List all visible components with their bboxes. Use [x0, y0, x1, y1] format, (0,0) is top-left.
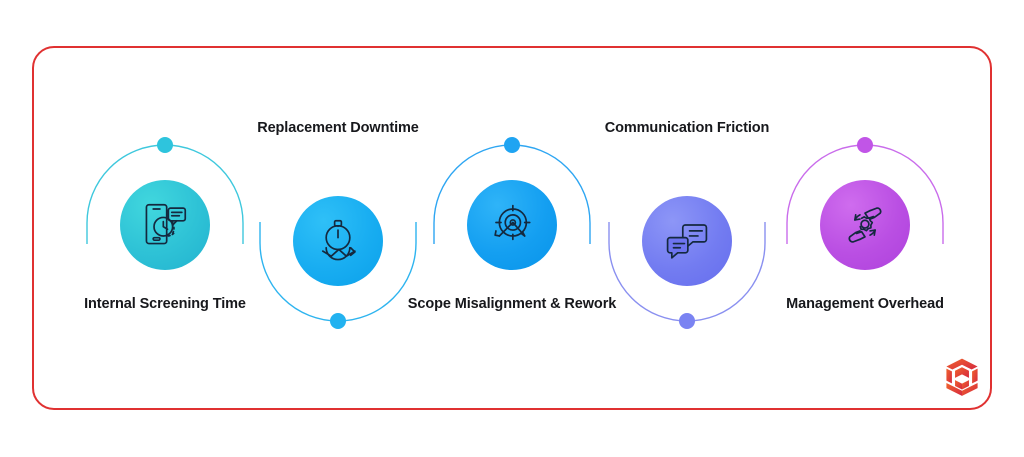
- icon-disc: [467, 180, 557, 270]
- chat-bubbles-icon: [660, 214, 714, 268]
- item-label: Internal Screening Time: [53, 294, 277, 315]
- infographic-canvas: Internal Screening Time Replacement Down…: [0, 0, 1024, 457]
- target-arrows-icon: [485, 198, 539, 252]
- icon-disc: [120, 180, 210, 270]
- smartphone-clock-message-icon: [138, 198, 192, 252]
- infographic-item-communication-friction[interactable]: Communication Friction: [597, 118, 777, 348]
- hands-gear-cycle-icon: [838, 198, 892, 252]
- infographic-item-internal-screening-time[interactable]: Internal Screening Time: [75, 118, 255, 348]
- icon-disc: [642, 196, 732, 286]
- brand-logo: [940, 355, 984, 399]
- infographic-item-scope-misalignment-rework[interactable]: Scope Misalignment & Rework: [422, 118, 602, 348]
- infographic-item-management-overhead[interactable]: Management Overhead: [775, 118, 955, 348]
- item-label: Management Overhead: [753, 294, 977, 315]
- cube-logo-icon: [940, 355, 984, 399]
- stopwatch-down-arrow-icon: [311, 214, 365, 268]
- item-label: Replacement Downtime: [226, 118, 450, 139]
- icon-disc: [293, 196, 383, 286]
- item-label: Scope Misalignment & Rework: [400, 294, 624, 315]
- icon-disc: [820, 180, 910, 270]
- item-label: Communication Friction: [575, 118, 799, 139]
